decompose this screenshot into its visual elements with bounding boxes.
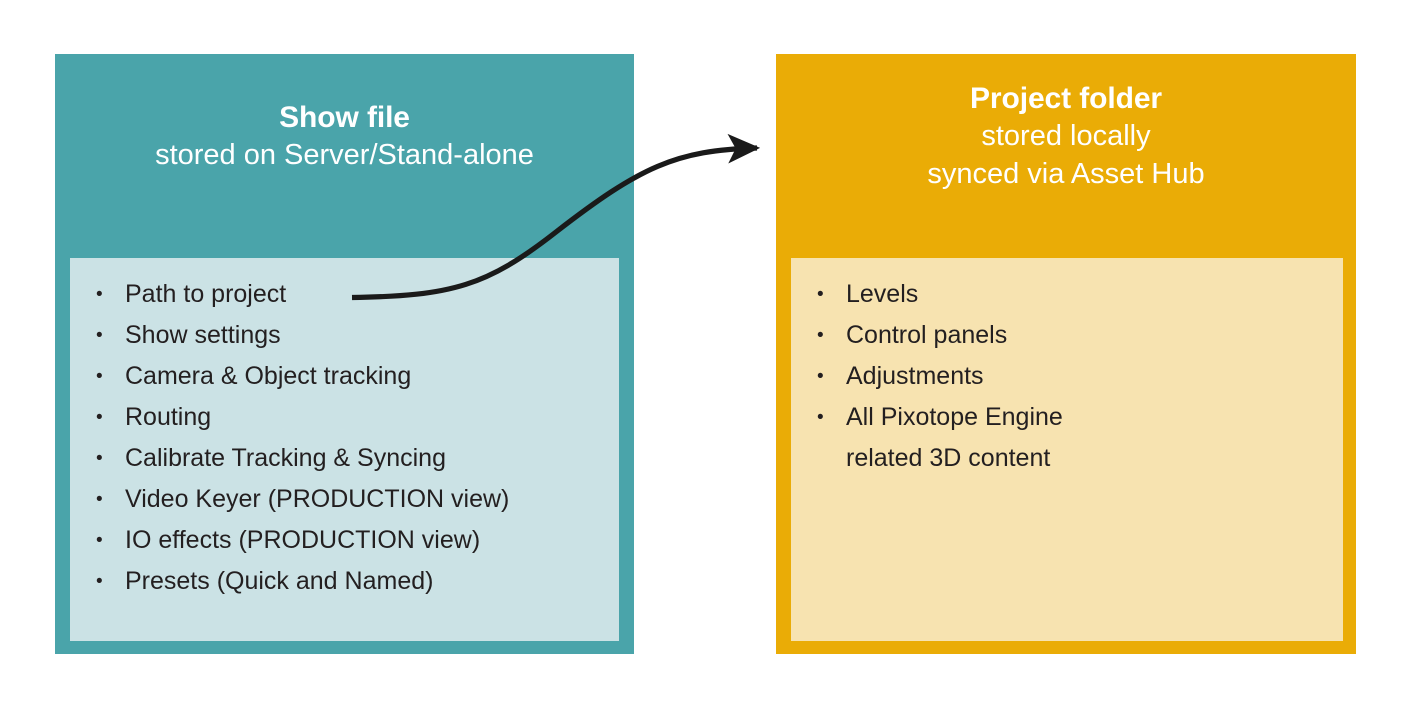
show-file-panel-title: Show file	[55, 99, 634, 137]
list-item: All Pixotope Engine related 3D content	[813, 397, 1325, 479]
list-item: Camera & Object tracking	[92, 356, 601, 397]
project-folder-item-list: Levels Control panels Adjustments All Pi…	[813, 274, 1325, 479]
list-item: Levels	[813, 274, 1325, 315]
list-item: Presets (Quick and Named)	[92, 561, 601, 602]
show-file-content-box: Path to project Show settings Camera & O…	[70, 258, 619, 641]
show-file-panel-subtitle: stored on Server/Stand-alone	[55, 137, 634, 174]
list-item: Calibrate Tracking & Syncing	[92, 438, 601, 479]
list-item: Show settings	[92, 315, 601, 356]
list-item: Routing	[92, 397, 601, 438]
list-item: Control panels	[813, 315, 1325, 356]
list-item: Video Keyer (PRODUCTION view)	[92, 479, 601, 520]
list-item: IO effects (PRODUCTION view)	[92, 520, 601, 561]
list-item: Adjustments	[813, 356, 1325, 397]
project-folder-panel-header: Project folder stored locally synced via…	[776, 54, 1356, 193]
show-file-project-folder-diagram: Show file stored on Server/Stand-alone P…	[0, 0, 1411, 708]
list-item: Path to project	[92, 274, 601, 315]
project-folder-panel-subtitle-line-1: stored locally	[776, 118, 1356, 155]
project-folder-panel-subtitle-line-2: synced via Asset Hub	[776, 156, 1356, 193]
show-file-panel-header: Show file stored on Server/Stand-alone	[55, 54, 634, 175]
project-folder-content-box: Levels Control panels Adjustments All Pi…	[791, 258, 1343, 641]
show-file-item-list: Path to project Show settings Camera & O…	[92, 274, 601, 602]
project-folder-panel-title: Project folder	[776, 80, 1356, 118]
